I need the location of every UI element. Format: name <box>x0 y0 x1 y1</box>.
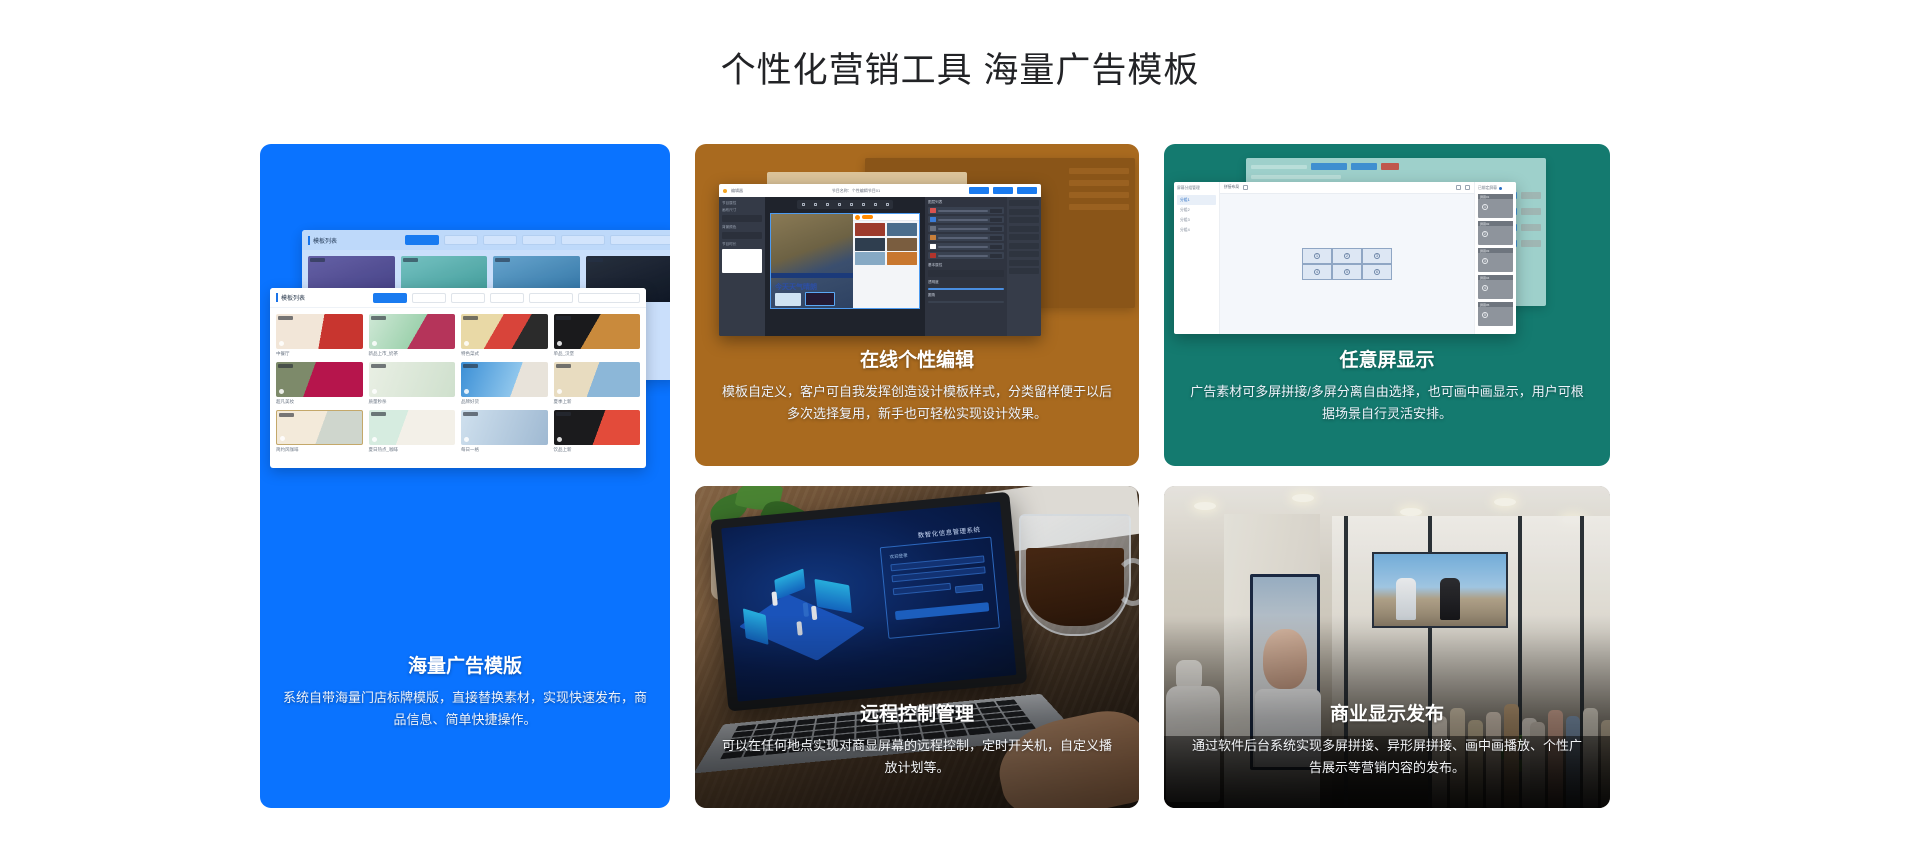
card-description: 模板自定义，客户可自我发挥创造设计模板样式，分类留样便于以后多次选择复用，新手也… <box>717 381 1117 424</box>
matrix-cell-number: 2 <box>1344 253 1350 259</box>
resolution-select[interactable] <box>561 235 605 245</box>
template-item[interactable]: 饮品上新 <box>554 410 641 453</box>
site-nav-pill <box>862 215 873 219</box>
card-heading: 海量广告模版 <box>282 651 648 678</box>
duration-preview[interactable] <box>722 249 762 273</box>
rail-item-rotate[interactable] <box>1009 226 1039 232</box>
template-label: 品牌好货 <box>461 399 548 405</box>
card-caption: 在线个性编辑 模板自定义，客户可自我发挥创造设计模板样式，分类留样便于以后多次选… <box>695 345 1139 424</box>
resolution-select[interactable] <box>529 293 573 303</box>
layer-row[interactable] <box>928 252 1004 259</box>
marketing-feature-page: 个性化营销工具 海量广告模板 模板列表 <box>0 0 1920 864</box>
feature-card-grid: 模板列表 <box>260 144 1660 808</box>
screen-index: 2 <box>1482 231 1488 237</box>
splice-matrix[interactable]: 1 2 3 4 5 6 <box>1302 248 1392 280</box>
window-title: 模板列表 <box>276 293 305 302</box>
card-heading: 任意屏显示 <box>1186 345 1588 372</box>
nav-item-group-4[interactable]: 分组4 <box>1177 225 1216 235</box>
template-item[interactable]: 超凡美妆 <box>276 362 363 405</box>
filter-button-2[interactable] <box>451 293 485 303</box>
splice-nav-panel: 屏幕分组管理 分组1 分组2 分组3 分组4 <box>1174 182 1220 334</box>
background-color-select[interactable] <box>722 232 762 239</box>
new-template-button[interactable] <box>373 293 407 303</box>
card-description: 广告素材可多屏拼接/多屏分离自由选择，也可画中画显示，用户可根据场景自行灵活安排… <box>1186 381 1588 424</box>
nav-item-group-1[interactable]: 分组1 <box>1177 195 1216 205</box>
canvas-title: 拼接布局 <box>1224 185 1239 190</box>
preview-button[interactable] <box>969 187 989 194</box>
nav-title: 屏幕分组管理 <box>1177 186 1216 191</box>
radius-slider[interactable] <box>928 301 1004 303</box>
screen-index: 4 <box>1482 285 1488 291</box>
template-thumbnail <box>461 410 548 445</box>
card-heading: 在线个性编辑 <box>717 345 1117 372</box>
field-label-duration: 节目时长 <box>722 242 762 247</box>
editor-titlebar: 编辑器 节目名称：个性编辑节目01 <box>719 184 1041 197</box>
opacity-slider[interactable] <box>928 288 1004 290</box>
page-title: 个性化营销工具 海量广告模板 <box>0 42 1920 93</box>
fit-screen-icon[interactable] <box>1456 185 1461 190</box>
template-label: 特色菜式 <box>461 351 548 357</box>
slider-label-radius: 圆角 <box>928 293 1004 298</box>
editor-canvas[interactable]: 今天天气晴朗 <box>765 197 925 336</box>
editor-left-panel: 节目属性 画布尺寸 背景颜色 节目时长 <box>719 197 765 336</box>
template-label: 饮品上新 <box>554 447 641 453</box>
rail-item-align[interactable] <box>1009 200 1039 206</box>
left-panel-title: 节目属性 <box>722 201 762 206</box>
template-thumbnail <box>554 410 641 445</box>
matrix-cell-number: 1 <box>1314 253 1320 259</box>
layer-row[interactable] <box>928 225 1004 232</box>
card-heading: 商业显示发布 <box>1186 699 1588 726</box>
property-select[interactable] <box>928 270 1004 277</box>
weather-tool-icon[interactable] <box>874 203 877 206</box>
card-caption: 任意屏显示 广告素材可多屏拼接/多屏分离自由选择，也可画中画显示，用户可根据场景… <box>1164 345 1610 424</box>
card-caption: 商业显示发布 通过软件后台系统实现多屏拼接、异形屏拼接、画中画播放、个性广告展示… <box>1164 699 1610 778</box>
image-tool-icon[interactable] <box>826 203 829 206</box>
filter-button-1[interactable] <box>444 235 478 245</box>
filter-button-1[interactable] <box>412 293 446 303</box>
editor-window-front: 编辑器 节目名称：个性编辑节目01 节目属性 画布尺寸 背景颜 <box>719 184 1041 336</box>
template-thumbnail <box>276 314 363 349</box>
screen-name: 屏幕01 <box>1480 195 1489 199</box>
layer-row[interactable] <box>928 207 1004 214</box>
refresh-icon[interactable] <box>1243 185 1248 190</box>
canvas-toolbar: 拼接布局 <box>1220 182 1474 194</box>
template-label: 新品上市_奶茶 <box>369 351 456 357</box>
matrix-cell-number: 3 <box>1374 253 1380 259</box>
screen-thumbnail[interactable]: 屏幕04 4 <box>1478 275 1513 299</box>
artboard-selected-layer[interactable] <box>805 292 835 306</box>
template-thumbnail <box>554 314 641 349</box>
matrix-cell-number: 5 <box>1344 269 1350 275</box>
layer-panel-title: 图层列表 <box>928 200 1004 205</box>
screen-index: 5 <box>1482 312 1488 318</box>
publish-button[interactable] <box>1017 187 1037 194</box>
editor-far-rail <box>1007 197 1041 336</box>
template-grid-front: 中餐厅 新品上市_奶茶 特色菜式 单品_汉堡 <box>270 308 646 459</box>
feature-card-mass-ad-templates[interactable]: 模板列表 <box>260 144 670 808</box>
editor-breadcrumb: 节目名称：个性编辑节目01 <box>832 188 880 194</box>
card-description: 系统自带海量门店标牌模版，直接替换素材，实现快速发布，商品信息、简单快捷操作。 <box>282 687 648 730</box>
template-gallery-window-front: 模板列表 中餐厅 <box>270 288 646 468</box>
template-item[interactable]: 质量秒杀 <box>369 362 456 405</box>
template-thumbnail <box>461 314 548 349</box>
rail-item-position[interactable] <box>1009 217 1039 223</box>
layer-row[interactable] <box>928 216 1004 223</box>
template-thumbnail <box>554 362 641 397</box>
splice-canvas-area[interactable]: 拼接布局 1 2 3 4 5 <box>1220 182 1474 334</box>
canvas-artboard[interactable]: 今天天气晴朗 <box>770 213 920 309</box>
rail-item-lock[interactable] <box>1009 234 1039 240</box>
search-input[interactable] <box>610 235 670 245</box>
matrix-cell[interactable]: 1 <box>1302 248 1332 264</box>
nav-item-group-2[interactable]: 分组2 <box>1177 205 1216 215</box>
screen-thumbnail[interactable]: 屏幕05 5 <box>1478 302 1513 326</box>
template-label: 夏日热点_咖啡 <box>369 447 456 453</box>
template-item[interactable]: 夏季上新 <box>554 362 641 405</box>
screen-name: 屏幕04 <box>1480 276 1489 280</box>
template-label: 夏季上新 <box>554 399 641 405</box>
clock-tool-icon[interactable] <box>862 203 865 206</box>
screen-thumbnail[interactable]: 屏幕02 2 <box>1478 221 1513 245</box>
editor-screenshot: 编辑器 节目名称：个性编辑节目01 节目属性 画布尺寸 背景颜 <box>695 158 1139 348</box>
screen-thumbnail[interactable]: 屏幕01 1 <box>1478 194 1513 218</box>
template-label: 超凡美妆 <box>276 399 363 405</box>
filter-button-3[interactable] <box>522 235 556 245</box>
screen-name: 屏幕05 <box>1480 303 1489 307</box>
template-thumbnail <box>369 410 456 445</box>
artboard-scene-layer: 今天天气晴朗 <box>771 214 853 308</box>
nav-item-group-3[interactable]: 分组3 <box>1177 215 1216 225</box>
rail-item-size[interactable] <box>1009 209 1039 215</box>
canvas-toolbar[interactable] <box>797 200 893 209</box>
canvas-size-select[interactable] <box>722 215 762 222</box>
template-item[interactable]: 新品上市_奶茶 <box>369 314 456 357</box>
card-caption: 远程控制管理 可以在任何地点实现对商显屏幕的远程控制，定时开关机，自定义播放计划… <box>695 699 1139 778</box>
artboard-image-layer <box>775 293 801 306</box>
slider-label-opacity: 透明度 <box>928 280 1004 285</box>
matrix-cell-number: 4 <box>1314 269 1320 275</box>
template-label: 质量秒杀 <box>369 399 456 405</box>
rail-item-group[interactable] <box>1009 243 1039 249</box>
site-logo-icon <box>855 215 860 220</box>
screen-thumbnail[interactable]: 屏幕03 3 <box>1478 248 1513 272</box>
card-description: 可以在任何地点实现对商显屏幕的远程控制，定时开关机，自定义播放计划等。 <box>717 735 1117 778</box>
screen-name: 屏幕02 <box>1480 222 1489 226</box>
template-label: 每日一格 <box>461 447 548 453</box>
text-tool-icon[interactable] <box>802 203 805 206</box>
matrix-cell[interactable]: 6 <box>1362 264 1392 280</box>
window-toolbar: 模板列表 <box>270 288 646 308</box>
status-dot-icon <box>1499 187 1502 190</box>
template-label: 简约风咖啡 <box>276 447 363 453</box>
window-toolbar: 模板列表 <box>302 230 670 250</box>
feature-card-any-screen-display[interactable]: 序号屏幕名称分辨率在线状态操作 屏幕分组管理 分组1 分组2 分组3 分组4 <box>1164 144 1610 466</box>
template-thumbnail <box>369 362 456 397</box>
app-logo-icon <box>723 189 727 193</box>
template-item[interactable]: 特色菜式 <box>461 314 548 357</box>
filter-button-2[interactable] <box>483 235 517 245</box>
filter-button-3[interactable] <box>490 293 524 303</box>
web-tool-icon[interactable] <box>850 203 853 206</box>
rail-item-animation[interactable] <box>1009 260 1039 266</box>
template-thumbnail <box>276 362 363 397</box>
screen-list-title: 已绑定屏幕 <box>1478 186 1497 191</box>
screen-index: 3 <box>1482 258 1488 264</box>
template-thumbnail <box>369 314 456 349</box>
card-caption: 海量广告模版 系统自带海量门店标牌模版，直接替换素材，实现快速发布，商品信息、简… <box>260 651 670 730</box>
field-label-canvas-size: 画布尺寸 <box>722 208 762 213</box>
matrix-cell-number: 6 <box>1374 269 1380 275</box>
template-item[interactable]: 品牌好货 <box>461 362 548 405</box>
template-item[interactable]: 每日一格 <box>461 410 548 453</box>
artboard-text-layer: 今天天气晴朗 <box>775 282 817 292</box>
layer-row[interactable] <box>928 243 1004 250</box>
artboard-ticker <box>771 273 853 278</box>
template-label: 单品_汉堡 <box>554 351 641 357</box>
more-tool-icon[interactable] <box>886 203 889 206</box>
property-panel-title: 基本属性 <box>928 263 1004 268</box>
template-item[interactable]: 简约风咖啡 <box>276 410 363 453</box>
matrix-cell[interactable]: 5 <box>1332 264 1362 280</box>
template-thumbnail <box>461 362 548 397</box>
card-description: 通过软件后台系统实现多屏拼接、异形屏拼接、画中画播放、个性广告展示等营销内容的发… <box>1186 735 1588 778</box>
delete-icon[interactable] <box>1465 185 1470 190</box>
rail-item-effects[interactable] <box>1009 251 1039 257</box>
template-label: 中餐厅 <box>276 351 363 357</box>
search-input[interactable] <box>578 293 640 303</box>
feature-card-commercial-display-publishing[interactable]: 商业显示发布 通过软件后台系统实现多屏拼接、异形屏拼接、画中画播放、个性广告展示… <box>1164 486 1610 808</box>
template-item[interactable]: 中餐厅 <box>276 314 363 357</box>
splice-screen-list: 已绑定屏幕 屏幕01 1 屏幕02 2 屏幕03 <box>1474 182 1516 334</box>
shape-tool-icon[interactable] <box>814 203 817 206</box>
new-template-button[interactable] <box>405 235 439 245</box>
card-heading: 远程控制管理 <box>717 699 1117 726</box>
template-thumbnail <box>276 410 363 445</box>
screen-splice-screenshot: 序号屏幕名称分辨率在线状态操作 屏幕分组管理 分组1 分组2 分组3 分组4 <box>1164 158 1610 348</box>
editor-layer-panel: 图层列表 基本属性 透明度 圆角 <box>925 197 1007 336</box>
splice-window-front: 屏幕分组管理 分组1 分组2 分组3 分组4 拼接布局 <box>1174 182 1516 334</box>
feature-card-online-personal-editing[interactable]: 编辑器 节目名称：个性编辑节目01 节目属性 画布尺寸 背景颜 <box>695 144 1139 466</box>
screen-name: 屏幕03 <box>1480 249 1489 253</box>
matrix-cell[interactable]: 3 <box>1362 248 1392 264</box>
feature-card-remote-control-management[interactable]: 数智化信息管理系统 欢迎登录 <box>695 486 1139 808</box>
layer-row[interactable] <box>928 234 1004 241</box>
editor-window-title: 编辑器 <box>731 188 743 194</box>
matrix-cell[interactable]: 2 <box>1332 248 1362 264</box>
rail-item-export[interactable] <box>1009 268 1039 274</box>
save-button[interactable] <box>993 187 1013 194</box>
template-item[interactable]: 夏日热点_咖啡 <box>369 410 456 453</box>
screen-index: 1 <box>1482 204 1488 210</box>
template-gallery-screenshot: 模板列表 <box>260 230 670 470</box>
field-label-background: 背景颜色 <box>722 225 762 230</box>
artboard-web-layer <box>853 214 919 308</box>
video-tool-icon[interactable] <box>838 203 841 206</box>
matrix-cell[interactable]: 4 <box>1302 264 1332 280</box>
template-item[interactable]: 单品_汉堡 <box>554 314 641 357</box>
window-title: 模板列表 <box>308 236 337 245</box>
